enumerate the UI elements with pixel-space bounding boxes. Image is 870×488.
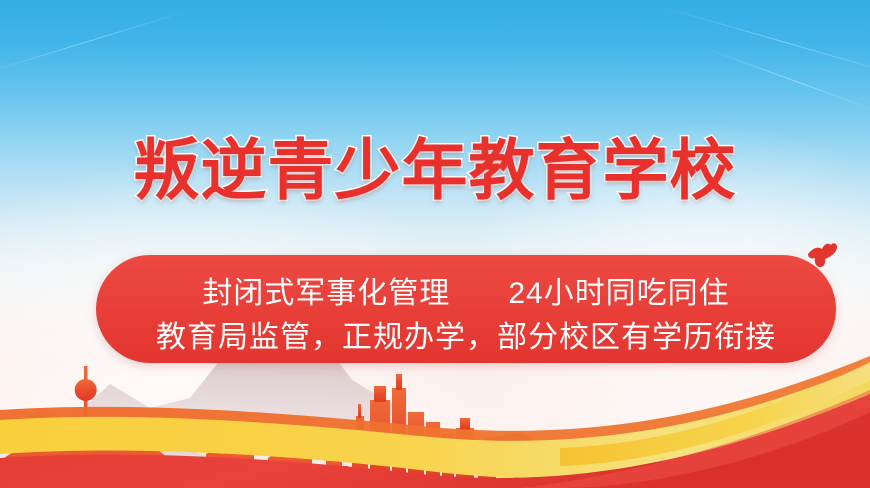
banner-line-1: 封闭式军事化管理24小时同吃同住 bbox=[96, 279, 836, 309]
banner-feature-closed-management: 封闭式军事化管理 bbox=[202, 277, 450, 310]
banner-feature-24h: 24小时同吃同住 bbox=[508, 277, 729, 310]
highlight-banner: 封闭式军事化管理24小时同吃同住 教育局监管，正规办学，部分校区有学历衔接 bbox=[96, 255, 836, 363]
poster-canvas: 叛逆青少年教育学校 封闭式军事化管理24小时同吃同住 教育局监管，正规办学，部分… bbox=[0, 0, 870, 488]
page-title: 叛逆青少年教育学校 bbox=[0, 137, 870, 203]
banner-line-2: 教育局监管，正规办学，部分校区有学历衔接 bbox=[96, 323, 836, 353]
